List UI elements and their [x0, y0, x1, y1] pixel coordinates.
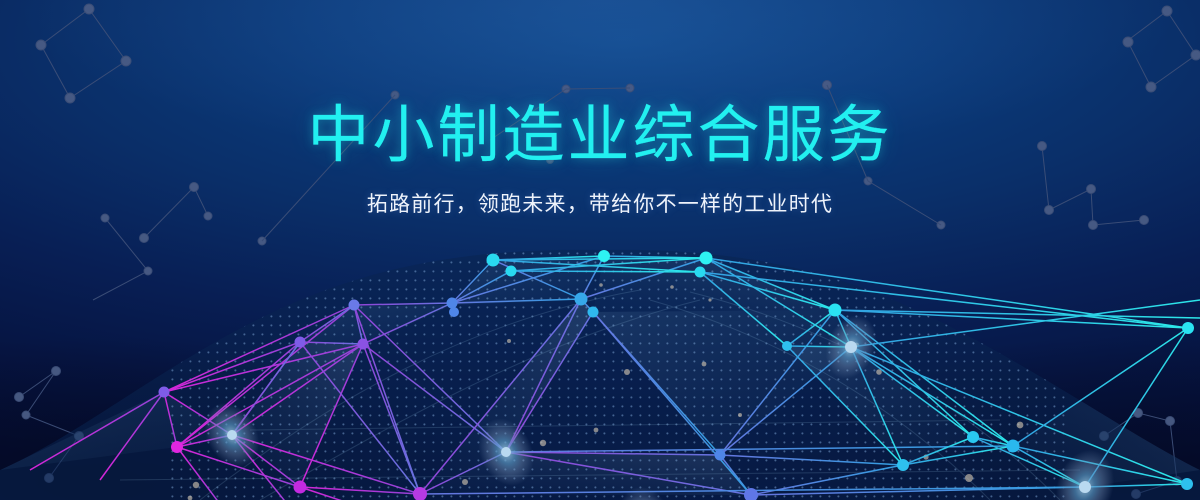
page-title: 中小制造业综合服务	[0, 0, 1200, 168]
node-group	[159, 250, 1195, 500]
hero-text-block: 中小制造业综合服务 拓路前行，领跑未来，带给你不一样的工业时代	[0, 0, 1200, 218]
hero-banner: 中小制造业综合服务 拓路前行，领跑未来，带给你不一样的工业时代	[0, 0, 1200, 500]
page-subtitle: 拓路前行，领跑未来，带给你不一样的工业时代	[0, 168, 1200, 218]
node-glow-group	[194, 307, 1123, 500]
